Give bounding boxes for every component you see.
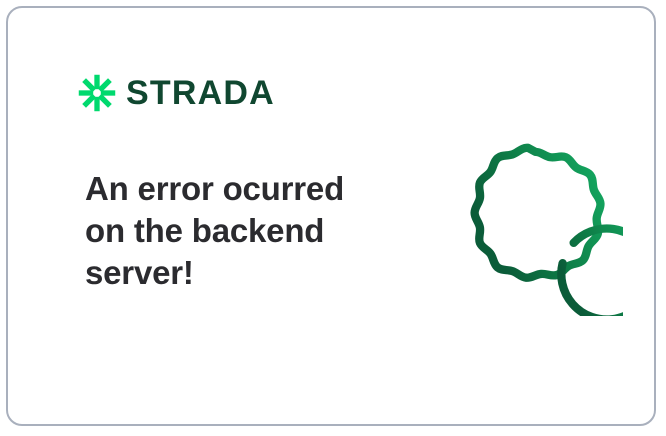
strada-asterisk-icon (78, 74, 116, 112)
brand-wordmark: STRADA (126, 76, 275, 111)
error-page: STRADA An error ocurred on the backend s… (0, 0, 666, 436)
error-message: An error ocurred on the backend server! (85, 168, 375, 294)
error-card: STRADA An error ocurred on the backend s… (6, 6, 656, 426)
brand-lockup: STRADA (78, 74, 275, 112)
gear-illustration (448, 140, 623, 316)
gear-cog-icon (448, 140, 623, 316)
